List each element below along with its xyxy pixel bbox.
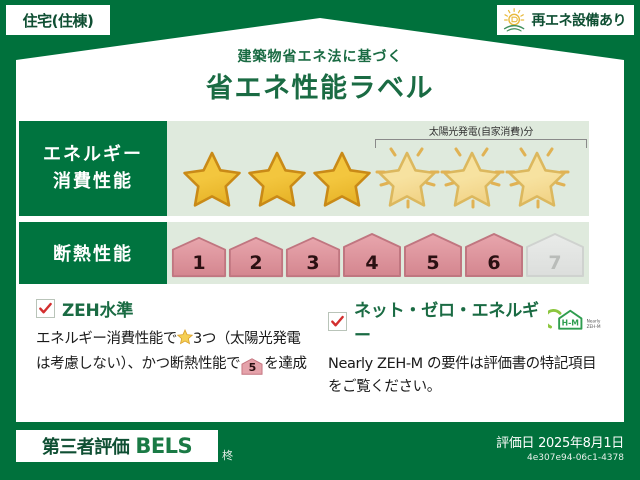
insulation-grade-badge: 5 — [403, 232, 463, 278]
svg-text:H-M: H-M — [562, 318, 579, 327]
label-footer: 第三者評価 BELS 柊 評価日 2025年8月1日 4e307e94-06c1… — [0, 422, 640, 480]
insulation-grade-badge: 2 — [228, 236, 284, 278]
svg-text:ZEH-M: ZEH-M — [587, 324, 601, 330]
insulation-performance-body: 1234567 — [167, 222, 589, 284]
checkmark-icon — [36, 299, 55, 318]
zeh-standard-description: エネルギー消費性能で 3つ（太陽光発電は考慮しない）、かつ断熱性能で 5 を達成 — [36, 328, 311, 376]
insulation-grade-inline-badge: 5 — [241, 358, 263, 375]
insulation-grade-number: 3 — [306, 252, 319, 274]
bels-registry-mark: 柊 — [222, 447, 233, 463]
net-zero-title: ネット・ゼロ・エネルギー — [354, 296, 539, 346]
renewable-equipment-badge: 再エネ設備あり — [497, 5, 635, 35]
sun-icon — [501, 7, 529, 33]
house-type-label: 住宅(住棟) — [23, 10, 94, 31]
zeh-desc-part1: エネルギー消費性能で — [36, 331, 177, 347]
label-title: 省エネ性能ラベル — [0, 66, 640, 105]
energy-performance-row: エネルギー 消費性能 太陽光発電(自家消費)分 — [19, 121, 589, 216]
star-icon-filled — [181, 146, 243, 212]
zeh-m-logo-icon: H-M Nearly ZEH-M — [548, 308, 608, 334]
bels-certification-chip: 第三者評価 BELS — [16, 430, 218, 462]
insulation-grade-number: 1 — [192, 252, 205, 274]
energy-performance-label: 住宅(住棟) 再エネ設備あり 建築物省エネ法 — [0, 0, 640, 480]
star-icon-solar — [506, 146, 568, 212]
star-icon-filled — [311, 146, 373, 212]
energy-performance-body: 太陽光発電(自家消費)分 — [167, 121, 589, 216]
insulation-grade-number: 6 — [487, 252, 500, 274]
energy-header-line2: 消費性能 — [53, 169, 133, 195]
zeh-desc-part3: を達成 — [264, 356, 306, 372]
inline-badge-number: 5 — [241, 358, 263, 377]
label-subtitle: 建築物省エネ法に基づく — [0, 46, 640, 66]
energy-star-rating — [167, 146, 568, 212]
star-icon-filled — [246, 146, 308, 212]
zeh-standard-header: ZEH水準 — [36, 296, 311, 321]
solar-annotation: 太陽光発電(自家消費)分 — [375, 123, 587, 148]
bels-jp-label: 第三者評価 — [42, 433, 130, 459]
insulation-performance-row: 断熱性能 1234567 — [19, 222, 589, 284]
insulation-performance-header: 断熱性能 — [19, 222, 167, 284]
insulation-grade-scale: 1234567 — [171, 232, 585, 278]
insulation-grade-number: 5 — [426, 252, 439, 274]
insulation-grade-badge: 3 — [285, 236, 341, 278]
star-icon — [177, 329, 193, 353]
star-icon-solar — [441, 146, 503, 212]
insulation-grade-badge: 7 — [525, 232, 585, 278]
insulation-grade-badge: 1 — [171, 236, 227, 278]
net-zero-header: ネット・ゼロ・エネルギー H-M Nearly ZEH-M — [328, 296, 608, 346]
evaluation-id: 4e307e94-06c1-4378 — [496, 453, 624, 463]
bels-en-label: BELS — [135, 434, 192, 458]
renewable-badge-label: 再エネ設備あり — [532, 10, 627, 30]
insulation-grade-number: 2 — [249, 252, 262, 274]
svg-text:Nearly: Nearly — [587, 319, 601, 325]
insulation-grade-number: 4 — [365, 252, 378, 274]
evaluation-date: 評価日 2025年8月1日 — [496, 432, 624, 451]
energy-header-line1: エネルギー — [43, 142, 143, 168]
checkmark-icon — [328, 312, 347, 331]
zeh-standard-section: ZEH水準 エネルギー消費性能で 3つ（太陽光発電は考慮しない）、かつ断熱性能で… — [36, 296, 311, 376]
insulation-grade-badge: 6 — [464, 232, 524, 278]
house-type-chip: 住宅(住棟) — [6, 5, 110, 35]
energy-performance-header: エネルギー 消費性能 — [19, 121, 167, 216]
insulation-grade-badge: 4 — [342, 232, 402, 278]
evaluation-info: 評価日 2025年8月1日 4e307e94-06c1-4378 — [496, 432, 624, 463]
star-icon-solar — [376, 146, 438, 212]
net-zero-description: Nearly ZEH-M の要件は評価書の特記項目をご覧ください。 — [328, 353, 608, 399]
zeh-standard-title: ZEH水準 — [62, 296, 133, 321]
insulation-header-label: 断熱性能 — [53, 240, 133, 266]
net-zero-energy-section: ネット・ゼロ・エネルギー H-M Nearly ZEH-M Nearly ZEH… — [328, 296, 608, 399]
solar-annotation-label: 太陽光発電(自家消費)分 — [375, 123, 587, 138]
insulation-grade-number: 7 — [548, 252, 561, 274]
